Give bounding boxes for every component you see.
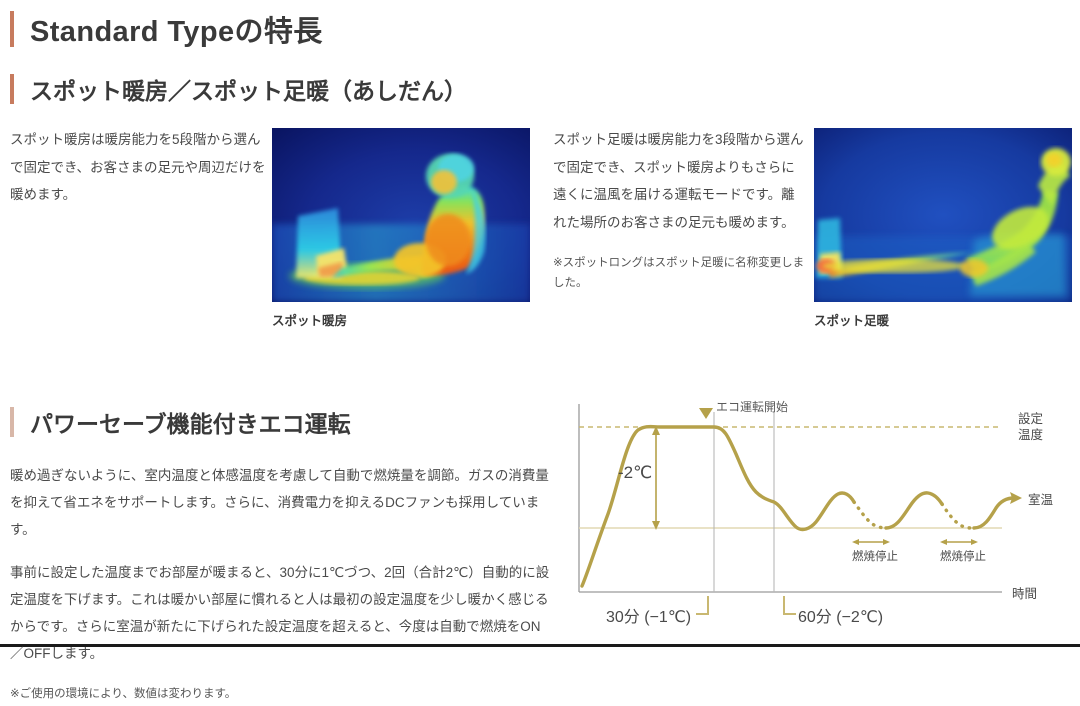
chart-burn-stop-dotted-2 [942,504,974,528]
eco-operation-chart: エコ運転開始 -2℃ 設定 温度 室温 時間 燃焼停止 燃焼停止 30分 (−1… [566,396,1080,640]
chart-tick-label-30min: 30分 (−1℃) [606,603,691,627]
chart-room-temperature-line-3 [974,498,1014,528]
page-root: { "headings": { "main": "Standard Typeの特… [0,0,1080,647]
heading-accent-bar [10,11,14,47]
chart-drop-measure-arrow [652,426,660,530]
main-heading: Standard Typeの特長 [10,8,323,50]
eco-start-triangle-icon [699,408,713,419]
chart-time-axis-label: 時間 [1012,583,1037,602]
section2-paragraph-1: 暖め過ぎないように、室内温度と体感温度を考慮して自動で燃焼量を調節。ガスの消費量… [10,462,550,543]
section2-paragraph-2: 事前に設定した温度までお部屋が暖まると、30分に1℃づつ、2回（合計2℃）自動的… [10,559,550,667]
section2-note: ※ご使用の環境により、数値は変わります。 [10,683,550,706]
chart-burn-stop-label-2: 燃焼停止 [940,548,986,564]
main-heading-text: Standard Typeの特長 [30,8,323,50]
thermal-image-spot-foot-warming [814,128,1072,302]
chart-room-temperature-line-2 [886,493,942,528]
thermal-image-spot-heating-caption: スポット暖房 [272,310,347,329]
chart-room-temperature-label: 室温 [1028,489,1053,508]
chart-tick-label-60min: 60分 (−2℃) [798,603,883,627]
section2-heading-text: パワーセーブ機能付きエコ運転 [30,405,351,439]
section1-left-text: スポット暖房は暖房能力を5段階から選んで固定でき、お客さまの足元や周辺だけを暖め… [10,126,268,209]
section1-right-note: ※スポットロングはスポット足暖に名称変更しました。 [553,253,805,293]
chart-burn-stop-label-1: 燃焼停止 [852,548,898,564]
chart-drop-label: -2℃ [618,463,652,483]
chart-tick-leader-30 [696,596,708,614]
section1-right-text: スポット足暖は暖房能力を3段階から選んで固定でき、スポット暖房よりもさらに遠くに… [553,126,805,237]
thermal-image-spot-heating [272,128,530,302]
section2-heading: パワーセーブ機能付きエコ運転 [10,405,351,439]
chart-burn-stop-arrow-1 [852,539,890,545]
section2-accent-bar [10,407,14,437]
chart-room-temperature-line-1 [582,427,854,586]
thermal-image-spot-heating-graphic [272,128,530,302]
thermal-image-spot-foot-warming-caption: スポット足暖 [814,310,889,329]
section1-heading: スポット暖房／スポット足暖（あしだん） [10,72,467,106]
chart-tick-leader-60 [784,596,796,614]
section1-heading-text: スポット暖房／スポット足暖（あしだん） [30,72,467,106]
chart-burn-stop-dotted-1 [854,502,886,528]
chart-burn-stop-arrow-2 [940,539,978,545]
thermal-image-spot-foot-warming-graphic [814,128,1072,302]
chart-set-temperature-label: 設定 温度 [1018,412,1043,443]
section2-body: 暖め過ぎないように、室内温度と体感温度を考慮して自動で燃焼量を調節。ガスの消費量… [10,462,550,706]
section1-right-column: スポット足暖は暖房能力を3段階から選んで固定でき、スポット暖房よりもさらに遠くに… [553,126,805,293]
section1-accent-bar [10,74,14,104]
chart-eco-start-label: エコ運転開始 [716,398,788,415]
